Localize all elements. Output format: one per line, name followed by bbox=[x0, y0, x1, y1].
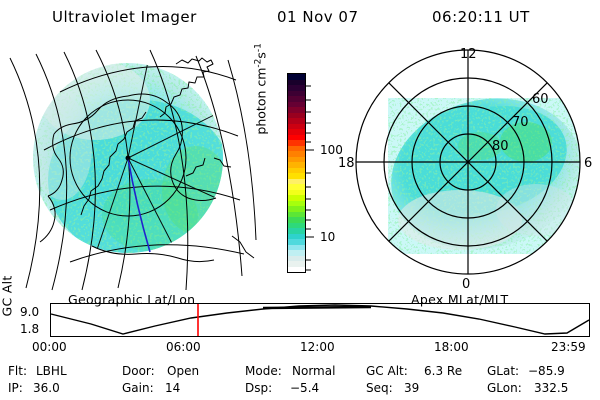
status-flt-value: LBHL bbox=[36, 364, 67, 378]
status-glat-value: −85.9 bbox=[528, 364, 565, 378]
mlat-label-80: 80 bbox=[492, 139, 509, 154]
header-instrument: Ultraviolet Imager bbox=[52, 8, 197, 26]
colorbar-band-35 bbox=[288, 267, 305, 273]
header-time: 06:20:11 UT bbox=[432, 8, 530, 26]
status-ip-value: 36.0 bbox=[33, 381, 60, 395]
strip-xtick-2: 12:00 bbox=[300, 340, 335, 354]
colorbar-exponent-1: -2 bbox=[253, 59, 263, 68]
colorbar-label-text: photon cm bbox=[254, 68, 269, 135]
status-flt-key: Flt: bbox=[8, 364, 27, 378]
status-gain-key: Gain: bbox=[122, 381, 154, 395]
apogee-segment bbox=[263, 307, 371, 308]
colorbar-exponent-2: -1 bbox=[253, 43, 263, 52]
altitude-curve bbox=[51, 305, 589, 334]
status-mode-key: Mode: bbox=[245, 364, 282, 378]
status-door-value: Open bbox=[167, 364, 199, 378]
mlt-dial-panel: 12 6 0 18 60 70 80 bbox=[340, 42, 600, 294]
strip-xtick-0: 00:00 bbox=[32, 340, 67, 354]
status-dsp-value: −5.4 bbox=[290, 381, 319, 395]
status-door-key: Door: bbox=[122, 364, 155, 378]
status-ip-key: IP: bbox=[8, 381, 23, 395]
status-glon-key: GLon: bbox=[487, 381, 522, 395]
orbit-altitude-strip[interactable] bbox=[50, 303, 590, 337]
mlt-label-18: 18 bbox=[338, 156, 355, 171]
mlat-label-60: 60 bbox=[532, 92, 549, 107]
strip-xtick-3: 18:00 bbox=[434, 340, 469, 354]
colorbar bbox=[287, 73, 306, 273]
status-glon-value: 332.5 bbox=[534, 381, 568, 395]
aurora-emission-mlt bbox=[375, 79, 597, 269]
uvi-display: Ultraviolet Imager 01 Nov 07 06:20:11 UT bbox=[0, 0, 600, 400]
mlt-label-0: 0 bbox=[462, 277, 470, 292]
status-seq-value: 39 bbox=[404, 381, 419, 395]
mlt-label-6: 6 bbox=[584, 156, 592, 171]
header-date: 01 Nov 07 bbox=[277, 8, 359, 26]
colorbar-label-s: s bbox=[254, 52, 269, 59]
mlat-label-70: 70 bbox=[512, 115, 529, 130]
status-gcalt-value: 6.3 Re bbox=[424, 364, 462, 378]
status-seq-key: Seq: bbox=[366, 381, 393, 395]
strip-xtick-1: 06:00 bbox=[166, 340, 201, 354]
colorbar-axis-label: photon cm-2s-1 bbox=[253, 117, 268, 135]
mlt-spokes bbox=[356, 50, 580, 274]
geographic-panel bbox=[0, 40, 260, 295]
strip-ytick-high: 9.0 bbox=[20, 305, 39, 319]
status-gain-value: 14 bbox=[165, 381, 180, 395]
status-glat-key: GLat: bbox=[487, 364, 519, 378]
strip-y-axis-label: GC Alt bbox=[0, 299, 15, 317]
status-mode-value: Normal bbox=[292, 364, 335, 378]
status-dsp-key: Dsp: bbox=[245, 381, 272, 395]
status-gcalt-key: GC Alt: bbox=[366, 364, 408, 378]
strip-xtick-4: 23:59 bbox=[551, 340, 586, 354]
colorbar-tick-10: 10 bbox=[320, 230, 335, 244]
mlt-label-12: 12 bbox=[460, 47, 477, 62]
strip-ytick-low: 1.8 bbox=[20, 322, 39, 336]
colorbar-ticks bbox=[306, 70, 320, 278]
